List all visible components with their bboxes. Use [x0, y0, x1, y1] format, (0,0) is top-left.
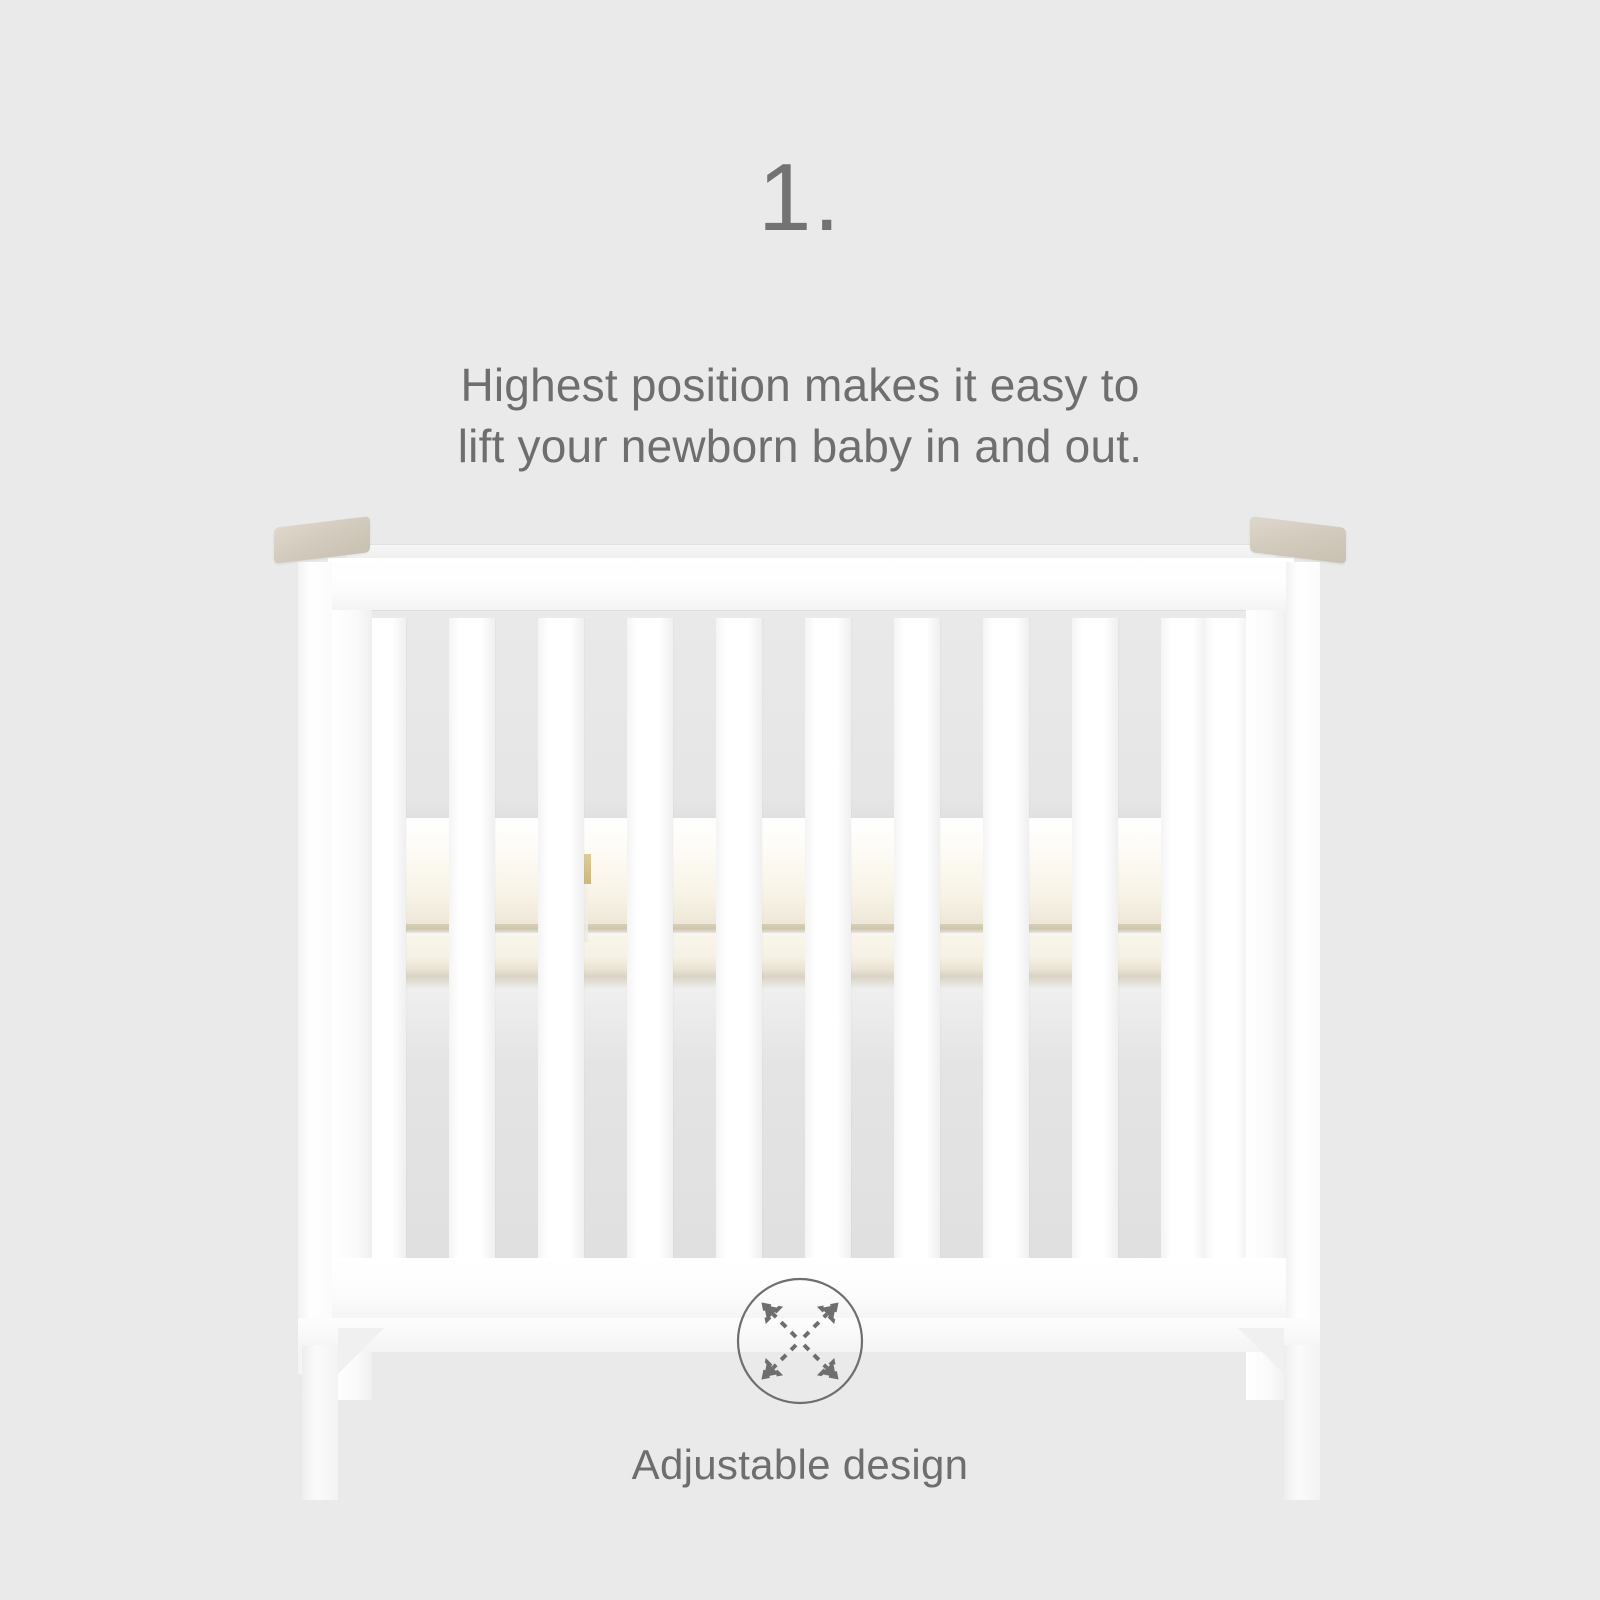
expand-arrows-icon [734, 1275, 866, 1407]
slat [1204, 618, 1250, 1258]
slat [894, 618, 940, 1258]
feature-label: Adjustable design [0, 1441, 1600, 1489]
product-image [250, 500, 1370, 1190]
headline-line-1: Highest position makes it easy to [0, 355, 1600, 416]
slat [1161, 618, 1207, 1258]
slat [449, 618, 495, 1258]
slat [1072, 618, 1118, 1258]
corner-post-right [1286, 562, 1320, 1374]
step-number: 1. [0, 150, 1600, 246]
corner-post-left [298, 562, 332, 1374]
headline-line-2: lift your newborn baby in and out. [0, 416, 1600, 477]
slat [627, 618, 673, 1258]
slat [538, 618, 584, 1258]
infographic-canvas: 1. Highest position makes it easy to lif… [0, 0, 1600, 1600]
headline: Highest position makes it easy to lift y… [0, 355, 1600, 477]
feature-block: Adjustable design [0, 1275, 1600, 1489]
slat [716, 618, 762, 1258]
cot-bed [250, 500, 1370, 1190]
slat-panel [360, 618, 1250, 1258]
slat [983, 618, 1029, 1258]
slat [805, 618, 851, 1258]
top-rail-front [328, 558, 1294, 610]
